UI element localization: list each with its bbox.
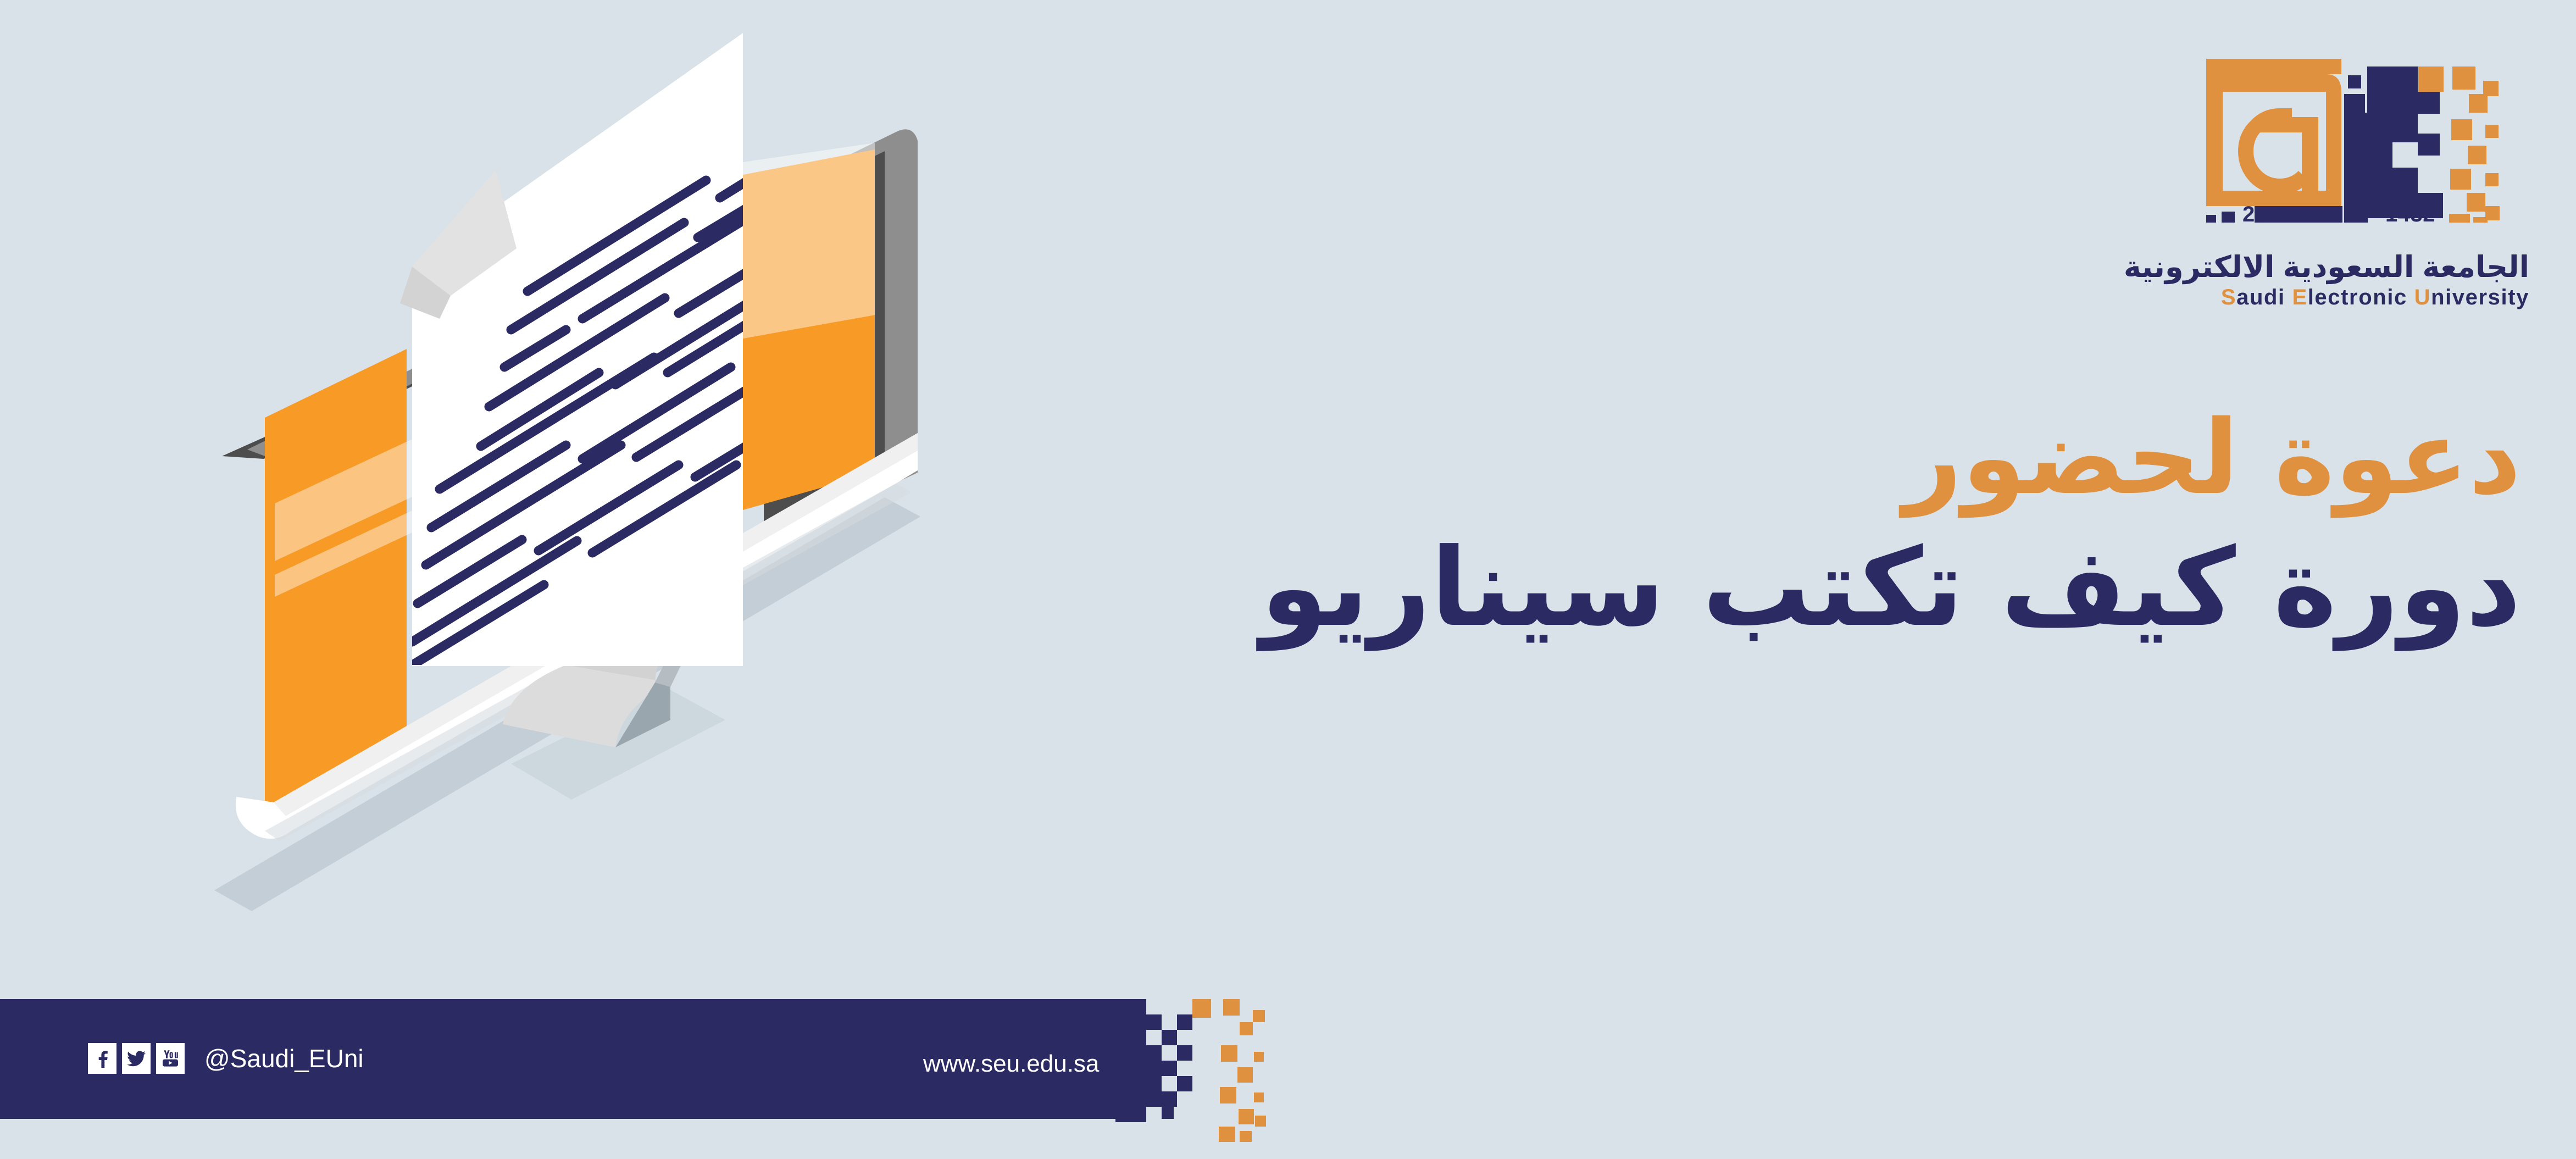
logo-year-gregorian: 2011 xyxy=(2242,202,2291,227)
at-sign-orange xyxy=(2206,59,2341,206)
twitter-icon[interactable] xyxy=(122,1043,151,1074)
headline-invitation: دعوة لحضور xyxy=(735,407,2521,509)
logo-en-lectronic: lectronic xyxy=(2308,285,2414,309)
document-sheet xyxy=(400,33,780,666)
pixel-dissolve-navy xyxy=(1115,999,1192,1122)
university-logo: 2011 1432 الجامعة السعودية الالكترونية S… xyxy=(2189,41,2529,310)
logo-en-audi: audi xyxy=(2236,285,2292,309)
logo-en-e: E xyxy=(2292,285,2307,309)
pixel-dissolve-orange xyxy=(1192,999,1266,1142)
logo-mark: 2011 1432 xyxy=(2189,41,2529,223)
headline-course-title: دورة كيف تكتب سيناريو xyxy=(735,534,2521,642)
footer-bar: @Saudi_EUni www.seu.edu.sa xyxy=(0,999,1115,1119)
social-handle: @Saudi_EUni xyxy=(204,1043,364,1074)
logo-name-arabic: الجامعة السعودية الالكترونية xyxy=(2189,251,2529,283)
logo-en-s: S xyxy=(2221,285,2236,309)
facebook-icon[interactable] xyxy=(88,1043,116,1074)
website-url[interactable]: www.seu.edu.sa xyxy=(923,1050,1099,1078)
youtube-icon[interactable] xyxy=(156,1043,185,1074)
logo-en-niversity: niversity xyxy=(2431,285,2529,309)
social-links: @Saudi_EUni xyxy=(88,1043,364,1074)
logo-en-u: U xyxy=(2414,285,2431,309)
logo-year-row: 2011 1432 xyxy=(2189,202,2529,227)
screen-right-gloss xyxy=(731,115,885,341)
footer-pixel-dissolve xyxy=(1115,999,1297,1142)
logo-name-english: Saudi Electronic University xyxy=(2189,285,2529,309)
logo-year-hijri: 1432 xyxy=(2385,202,2435,227)
headline-block: دعوة لحضور دورة كيف تكتب سيناريو xyxy=(735,407,2521,642)
banner-root: 2011 1432 الجامعة السعودية الالكترونية S… xyxy=(0,0,2576,1159)
